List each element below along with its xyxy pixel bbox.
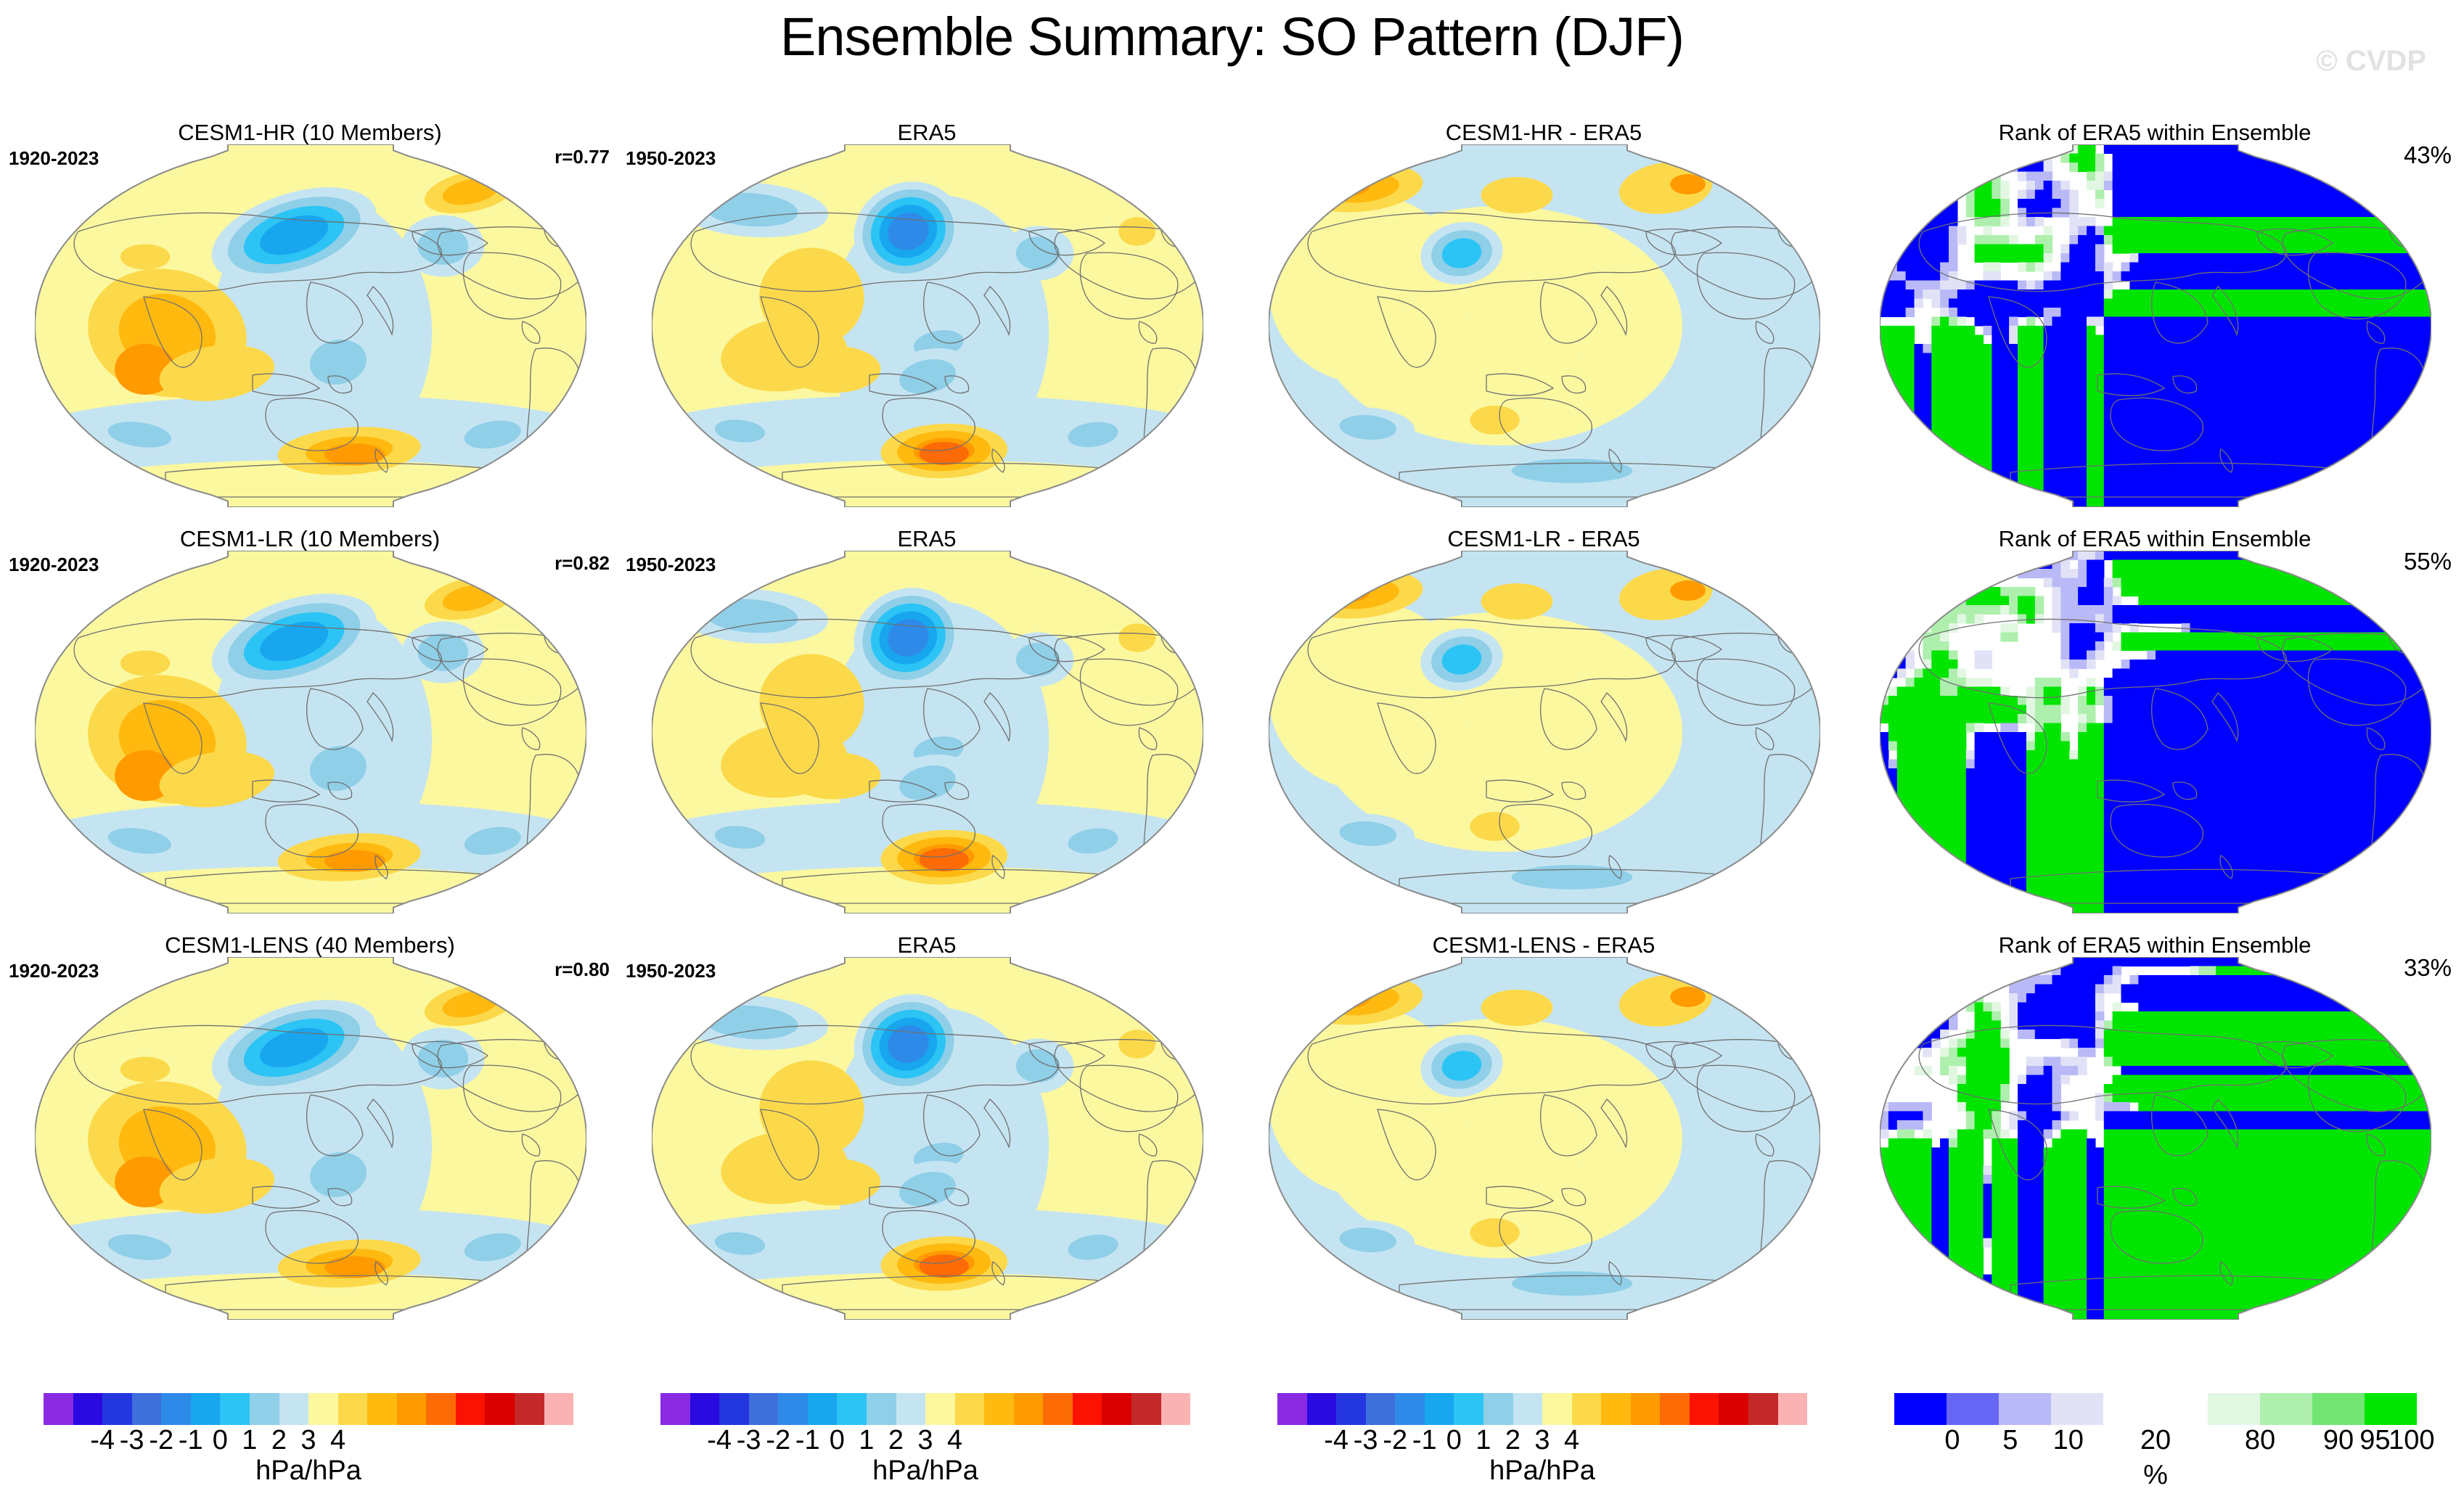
colorbar-cell-6	[2260, 1393, 2312, 1425]
colorbar-cell-9	[925, 1393, 955, 1425]
map-projection-diff	[1269, 957, 1820, 1320]
map-projection-model	[35, 957, 586, 1320]
colorbar-cell-4	[2103, 1393, 2208, 1425]
colorbar-cell-17	[1778, 1393, 1808, 1425]
panel-title: ERA5	[623, 120, 1231, 146]
colorbar-cell-1	[1307, 1393, 1337, 1425]
colorbar-cell-13	[1043, 1393, 1073, 1425]
colorbar-cell-3	[2051, 1393, 2103, 1425]
map-projection-diff	[1269, 144, 1820, 507]
colorbar-cell-16	[1131, 1393, 1161, 1425]
colorbar-tick-label: -2	[149, 1425, 173, 1456]
map-projection-obs	[652, 144, 1203, 507]
map-panel-rank-row3: Rank of ERA5 within Ensemble33%	[1851, 932, 2459, 1328]
colorbar-cell-1	[73, 1393, 103, 1425]
colorbar-ticks: -4-3-2-101234	[1277, 1425, 1807, 1458]
map-projection-rank	[1880, 551, 2431, 913]
colorbar-cell-7	[250, 1393, 279, 1425]
colorbar-tick-label: -1	[795, 1425, 820, 1456]
map-projection-model	[35, 144, 586, 507]
figure-root: Ensemble Summary: SO Pattern (DJF) © CVD…	[0, 0, 2464, 1485]
colorbar-rank: 051020809095100%	[1894, 1393, 2417, 1491]
colorbar-unit-label: hPa/hPa	[660, 1455, 1190, 1487]
cvdp-watermark: © CVDP	[2316, 45, 2426, 78]
colorbar-cell-3	[749, 1393, 779, 1425]
colorbar-cell-5	[1425, 1393, 1454, 1425]
colorbar-tick-label: -1	[179, 1425, 203, 1456]
colorbar-cell-11	[1601, 1393, 1631, 1425]
colorbar-cell-10	[338, 1393, 368, 1425]
panel-title: ERA5	[623, 932, 1231, 958]
colorbar-cell-9	[1542, 1393, 1572, 1425]
map-projection-obs	[652, 551, 1203, 913]
colorbar-cell-6	[220, 1393, 250, 1425]
colorbar-tick-label: 4	[1564, 1425, 1579, 1456]
colorbar-cell-4	[778, 1393, 808, 1425]
colorbar-strip	[1277, 1393, 1807, 1425]
map-panel-model-row1: CESM1-HR (10 Members)1920-2023r=0.77	[6, 120, 614, 515]
colorbar-cell-7	[867, 1393, 896, 1425]
colorbar-tick-label: 90	[2323, 1425, 2354, 1456]
colorbar-tick-label: 2	[271, 1425, 287, 1456]
colorbar-cell-17	[1161, 1393, 1191, 1425]
colorbar-cell-14	[456, 1393, 486, 1425]
colorbar-cell-16	[1748, 1393, 1778, 1425]
colorbar-tick-label: 0	[213, 1425, 228, 1456]
colorbar-tick-label: 80	[2245, 1425, 2275, 1456]
colorbar-cell-2	[1999, 1393, 2051, 1425]
colorbar-tick-label: -4	[707, 1425, 732, 1456]
panel-title: CESM1-HR (10 Members)	[6, 120, 614, 146]
colorbar-tick-label: 1	[859, 1425, 874, 1456]
colorbar-tick-label: 4	[947, 1425, 962, 1456]
colorbar-tick-label: 0	[1944, 1425, 1960, 1456]
colorbar-cell-8	[2365, 1393, 2417, 1425]
colorbar-cell-16	[515, 1393, 544, 1425]
colorbar-tick-label: 2	[1505, 1425, 1520, 1456]
colorbar-tick-label: 10	[2053, 1425, 2084, 1456]
colorbar-anomaly-1: -4-3-2-101234hPa/hPa	[44, 1393, 573, 1487]
colorbar-cell-8	[1513, 1393, 1543, 1425]
panel-title: CESM1-LR (10 Members)	[6, 526, 614, 552]
map-panel-diff-row2: CESM1-LR - ERA5	[1240, 526, 1848, 921]
colorbar-tick-label: 95	[2359, 1425, 2390, 1456]
colorbar-ticks: -4-3-2-101234	[44, 1425, 573, 1458]
colorbar-cell-12	[1631, 1393, 1661, 1425]
colorbar-cell-0	[660, 1393, 690, 1425]
colorbar-cell-14	[1690, 1393, 1719, 1425]
figure-title: Ensemble Summary: SO Pattern (DJF)	[0, 6, 2464, 67]
colorbar-cell-0	[44, 1393, 73, 1425]
colorbar-tick-label: -3	[1354, 1425, 1378, 1456]
map-panel-diff-row3: CESM1-LENS - ERA5	[1240, 932, 1848, 1328]
colorbar-tick-label: 4	[330, 1425, 345, 1456]
colorbar-cell-14	[1073, 1393, 1102, 1425]
colorbar-cell-8	[896, 1393, 926, 1425]
colorbar-strip	[660, 1393, 1190, 1425]
map-panel-obs-row3: ERA51950-2023	[623, 932, 1231, 1328]
map-panel-obs-row2: ERA51950-2023	[623, 526, 1231, 921]
colorbar-cell-2	[719, 1393, 749, 1425]
colorbar-cell-3	[1366, 1393, 1396, 1425]
colorbar-unit-label: hPa/hPa	[44, 1455, 573, 1487]
colorbar-cell-7	[1483, 1393, 1513, 1425]
colorbar-tick-label: -4	[90, 1425, 115, 1456]
colorbar-cell-4	[161, 1393, 191, 1425]
colorbar-cell-1	[690, 1393, 720, 1425]
colorbar-tick-label: -2	[766, 1425, 790, 1456]
colorbar-cell-9	[308, 1393, 338, 1425]
colorbar-strip	[1894, 1393, 2417, 1425]
colorbar-ticks: -4-3-2-101234	[660, 1425, 1190, 1458]
colorbar-unit-label: %	[1894, 1460, 2417, 1491]
colorbar-cell-0	[1894, 1393, 1947, 1425]
panel-title: CESM1-LENS (40 Members)	[6, 932, 614, 958]
colorbar-cell-17	[544, 1393, 574, 1425]
panel-title: ERA5	[623, 526, 1231, 552]
colorbar-anomaly-2: -4-3-2-101234hPa/hPa	[660, 1393, 1190, 1487]
colorbar-tick-label: 3	[300, 1425, 316, 1456]
colorbar-cell-7	[2312, 1393, 2365, 1425]
colorbar-tick-label: 20	[2140, 1425, 2171, 1456]
colorbar-tick-label: 1	[1475, 1425, 1491, 1456]
colorbar-cell-5	[2208, 1393, 2260, 1425]
colorbar-unit-label: hPa/hPa	[1277, 1455, 1807, 1487]
colorbar-cell-1	[1947, 1393, 1999, 1425]
colorbar-tick-label: 3	[917, 1425, 933, 1456]
panel-title: Rank of ERA5 within Ensemble	[1851, 120, 2459, 146]
map-panel-obs-row1: ERA51950-2023	[623, 120, 1231, 515]
colorbar-tick-label: -4	[1324, 1425, 1348, 1456]
colorbar-cell-6	[837, 1393, 867, 1425]
map-projection-rank	[1880, 144, 2431, 507]
colorbar-cell-15	[1102, 1393, 1131, 1425]
colorbar-tick-label: -3	[120, 1425, 144, 1456]
colorbar-cell-12	[397, 1393, 427, 1425]
colorbar-tick-label: 2	[888, 1425, 904, 1456]
colorbar-tick-label: 100	[2389, 1425, 2434, 1456]
colorbar-tick-label: -2	[1383, 1425, 1407, 1456]
colorbar-cell-13	[1660, 1393, 1690, 1425]
colorbar-tick-label: 0	[830, 1425, 845, 1456]
colorbar-cell-5	[191, 1393, 221, 1425]
colorbar-cell-10	[1572, 1393, 1602, 1425]
colorbar-cell-0	[1277, 1393, 1307, 1425]
colorbar-cell-5	[808, 1393, 838, 1425]
colorbar-cell-15	[485, 1393, 515, 1425]
map-panel-model-row3: CESM1-LENS (40 Members)1920-2023r=0.80	[6, 932, 614, 1328]
colorbar-strip	[44, 1393, 573, 1425]
colorbar-cell-3	[132, 1393, 162, 1425]
colorbar-tick-label: -1	[1412, 1425, 1437, 1456]
panel-title: CESM1-LENS - ERA5	[1240, 932, 1848, 958]
colorbar-anomaly-3: -4-3-2-101234hPa/hPa	[1277, 1393, 1807, 1487]
panel-title: CESM1-HR - ERA5	[1240, 120, 1848, 146]
colorbar-cell-13	[426, 1393, 456, 1425]
colorbar-tick-label: -3	[737, 1425, 761, 1456]
panel-title: CESM1-LR - ERA5	[1240, 526, 1848, 552]
map-panel-diff-row1: CESM1-HR - ERA5	[1240, 120, 1848, 515]
colorbar-cell-11	[367, 1393, 397, 1425]
colorbar-cell-12	[1014, 1393, 1044, 1425]
map-panel-model-row2: CESM1-LR (10 Members)1920-2023r=0.82	[6, 526, 614, 921]
map-projection-rank	[1880, 957, 2431, 1320]
map-projection-obs	[652, 957, 1203, 1320]
colorbar-tick-label: 0	[1446, 1425, 1462, 1456]
map-panel-rank-row2: Rank of ERA5 within Ensemble55%	[1851, 526, 2459, 921]
colorbar-cell-8	[279, 1393, 309, 1425]
colorbar-cell-10	[955, 1393, 985, 1425]
panel-title: Rank of ERA5 within Ensemble	[1851, 932, 2459, 958]
colorbar-ticks: 051020809095100	[1894, 1425, 2417, 1458]
panel-title: Rank of ERA5 within Ensemble	[1851, 526, 2459, 552]
colorbar-cell-11	[984, 1393, 1014, 1425]
map-projection-diff	[1269, 551, 1820, 913]
colorbar-cell-2	[1336, 1393, 1366, 1425]
colorbar-cell-15	[1719, 1393, 1748, 1425]
map-projection-model	[35, 551, 586, 913]
colorbar-tick-label: 5	[2002, 1425, 2018, 1456]
colorbar-cell-2	[102, 1393, 132, 1425]
colorbar-tick-label: 3	[1534, 1425, 1550, 1456]
colorbar-tick-label: 1	[242, 1425, 257, 1456]
colorbar-cell-6	[1454, 1393, 1483, 1425]
colorbar-cell-4	[1395, 1393, 1425, 1425]
map-panel-rank-row1: Rank of ERA5 within Ensemble43%	[1851, 120, 2459, 515]
